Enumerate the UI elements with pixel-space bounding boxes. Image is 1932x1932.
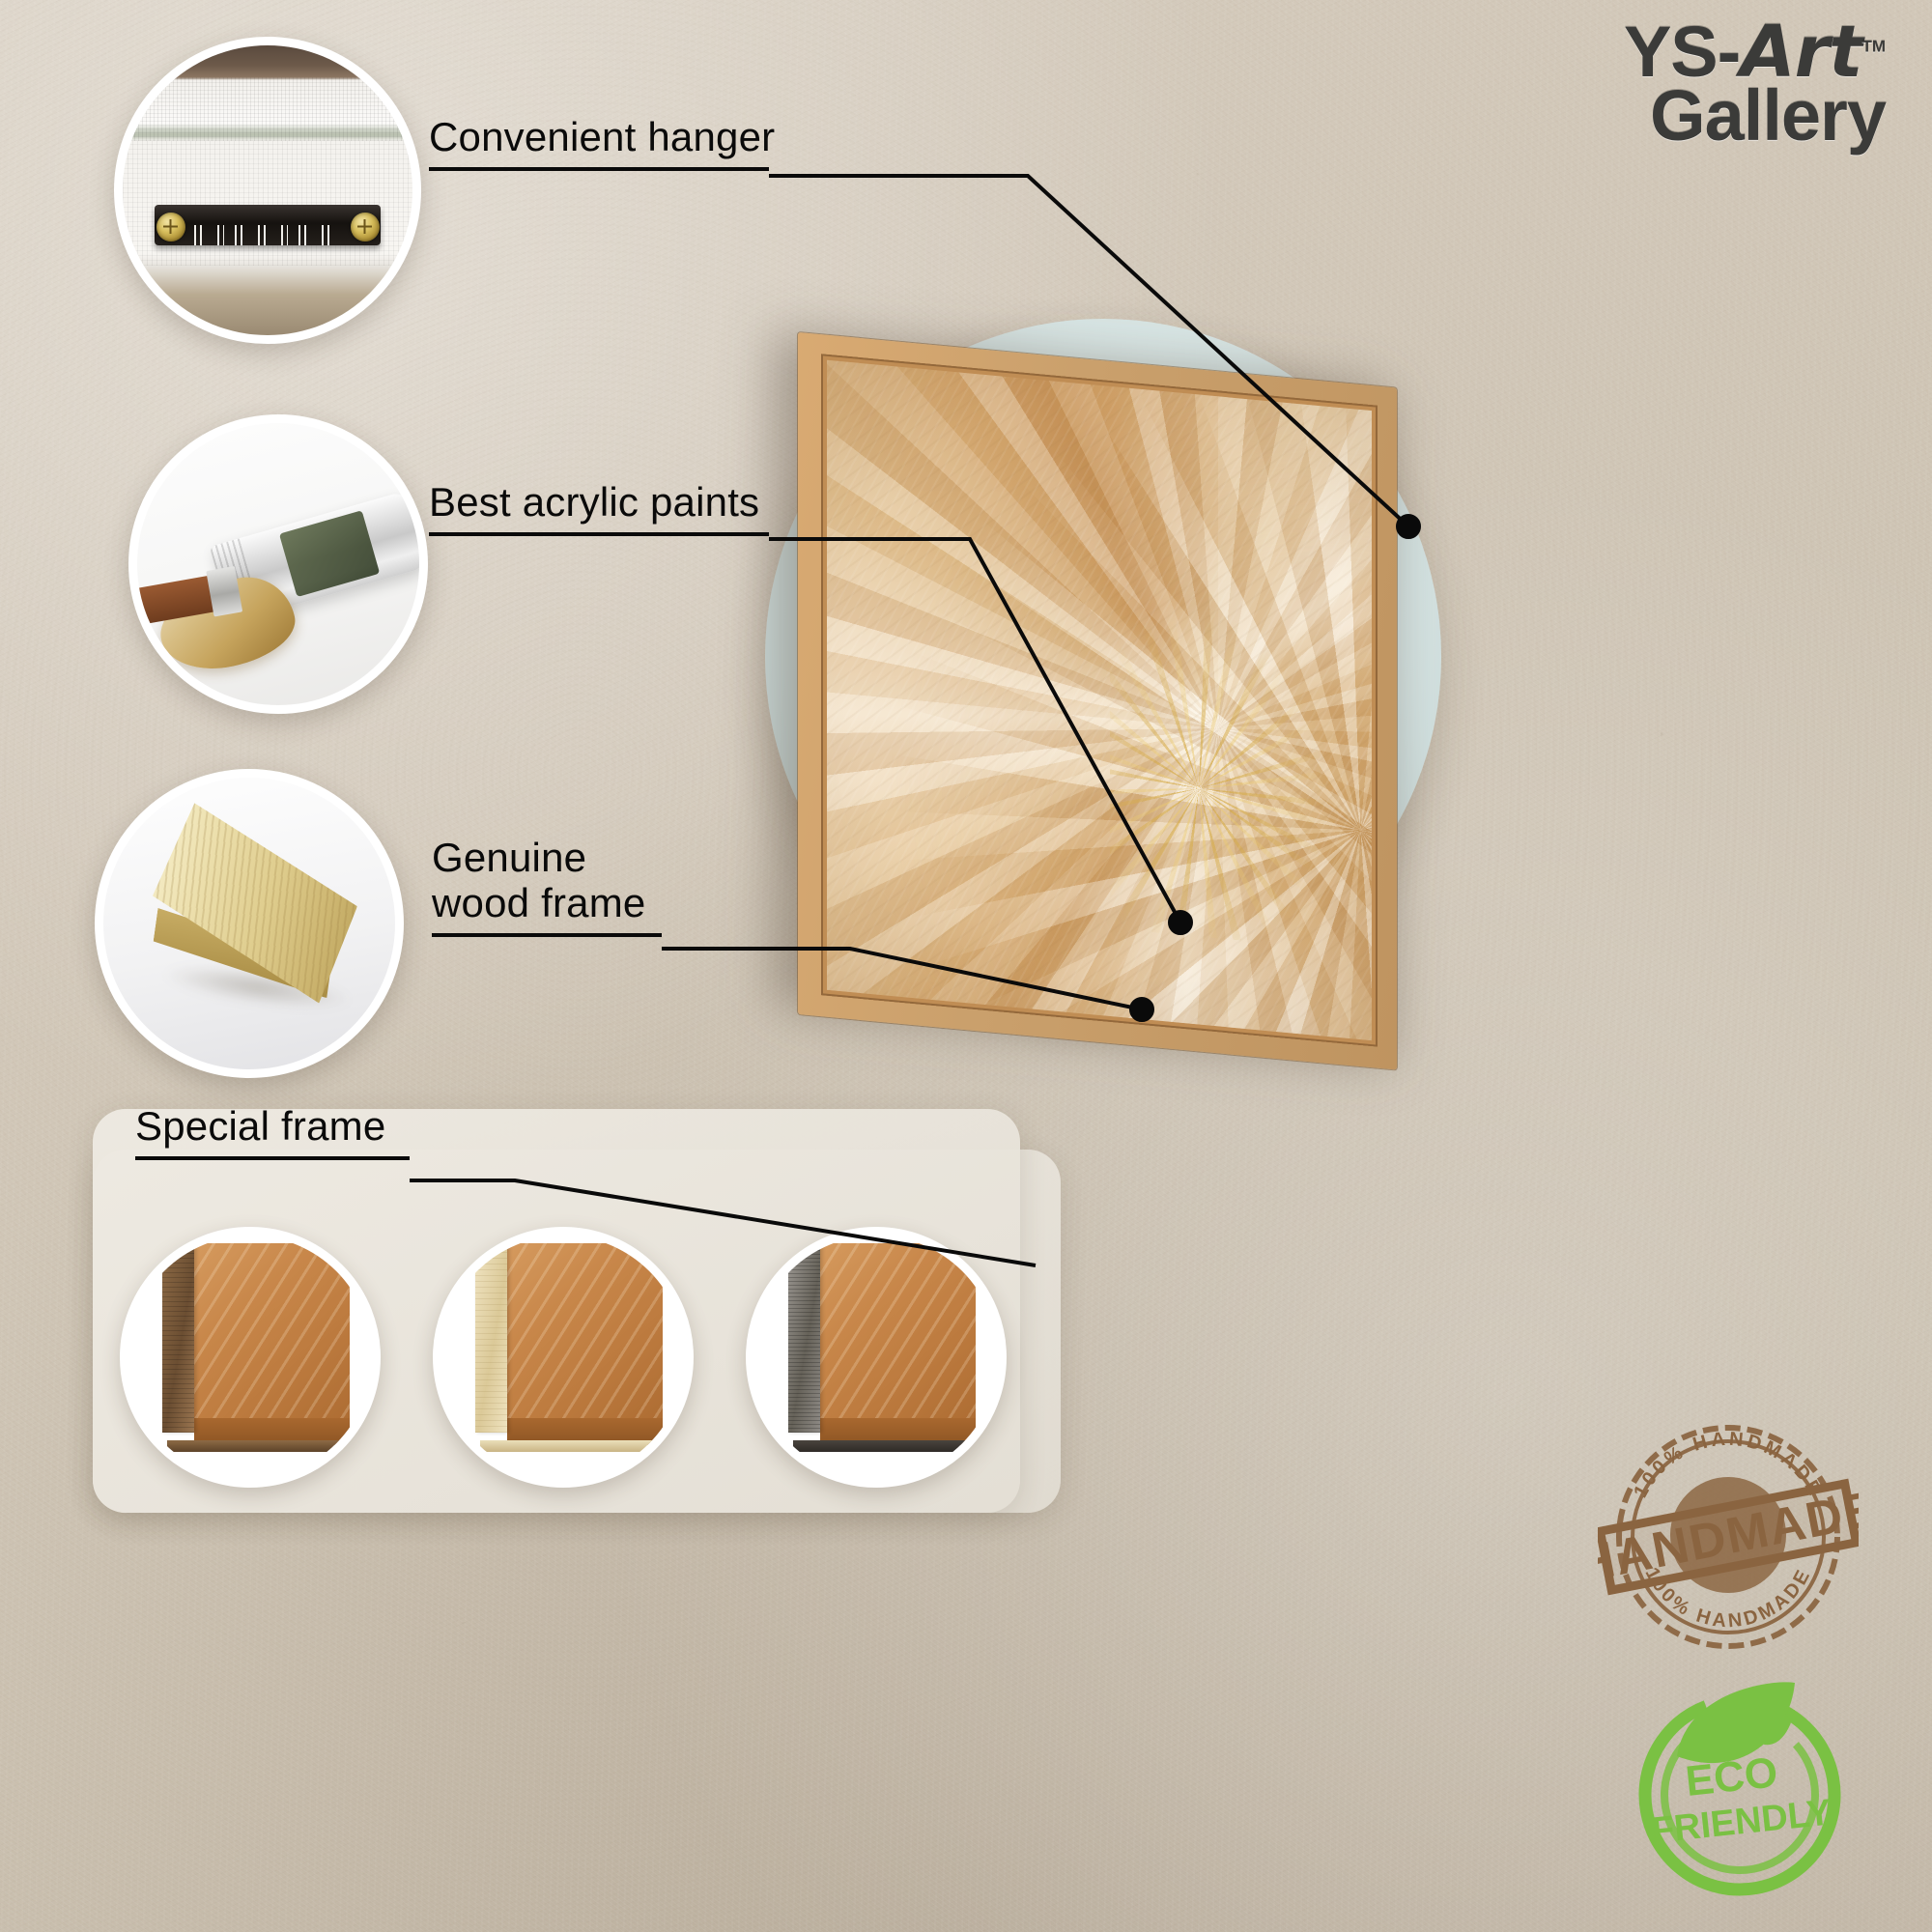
hanger-screw-left	[156, 213, 185, 241]
canvas-weave-bottom	[123, 141, 412, 266]
hanger-photo	[123, 45, 412, 335]
detail-bubble-paints[interactable]	[128, 414, 428, 714]
logo-art-script: Art	[1740, 11, 1861, 94]
callout-underline	[429, 532, 769, 536]
frame-option-natural[interactable]	[433, 1227, 694, 1488]
callout-label-text: Best acrylic paints	[429, 479, 769, 525]
hanger-screw-right	[351, 213, 380, 241]
framed-canvas-face	[820, 1243, 976, 1418]
frame-bottom-lip	[793, 1440, 973, 1453]
frame-side-profile	[162, 1243, 194, 1434]
callout-special-frame: Special frame	[135, 1103, 410, 1160]
logo-line-one: YS-ArtTM	[1624, 17, 1886, 87]
eco-line-two: FRIENDLY	[1650, 1792, 1833, 1851]
callout-best-acrylic-paints: Best acrylic paints	[429, 479, 769, 536]
canvas-weave-top	[123, 77, 412, 141]
detail-bubble-wood-frame[interactable]	[95, 769, 404, 1078]
sawtooth-teeth	[192, 225, 343, 245]
detail-bubble-hanger[interactable]	[114, 37, 421, 344]
frame-bottom-lip	[167, 1440, 347, 1453]
callout-underline	[432, 933, 662, 937]
canvas-vignette	[827, 360, 1372, 1040]
eco-friendly-badge: ECO FRIENDLY	[1619, 1667, 1861, 1909]
paint-tube-photo	[137, 423, 419, 705]
callout-label-text: Genuine wood frame	[432, 835, 662, 925]
frame-side-profile	[475, 1243, 507, 1434]
frame-option-walnut[interactable]	[120, 1227, 381, 1488]
eco-friendly-svg: ECO FRIENDLY	[1619, 1667, 1861, 1909]
callout-genuine-wood-frame: Genuine wood frame	[432, 835, 662, 937]
framed-canvas-face	[194, 1243, 350, 1418]
artwork-canvas	[827, 360, 1372, 1040]
callout-label-text: Convenient hanger	[429, 114, 775, 159]
frame-bottom-lip	[480, 1440, 660, 1453]
frame-option-grey[interactable]	[746, 1227, 1007, 1488]
handmade-stamp: 100% HANDMADE 100% HANDMADE HANDMADE	[1598, 1406, 1859, 1667]
callout-convenient-hanger: Convenient hanger	[429, 114, 775, 171]
eco-line-one: ECO	[1684, 1748, 1780, 1805]
callout-label-text: Special frame	[135, 1103, 410, 1149]
frame-side-profile	[788, 1243, 820, 1434]
wood-block-photo	[103, 778, 395, 1069]
main-artwork[interactable]	[798, 332, 1397, 1070]
framed-canvas-face	[507, 1243, 663, 1418]
callout-underline	[135, 1156, 410, 1160]
handmade-stamp-svg: 100% HANDMADE 100% HANDMADE HANDMADE	[1598, 1406, 1859, 1667]
brand-logo: YS-ArtTM Gallery	[1624, 17, 1886, 150]
trademark-symbol: TM	[1861, 37, 1886, 55]
paint-tube-label	[279, 509, 380, 596]
callout-underline	[429, 167, 769, 171]
